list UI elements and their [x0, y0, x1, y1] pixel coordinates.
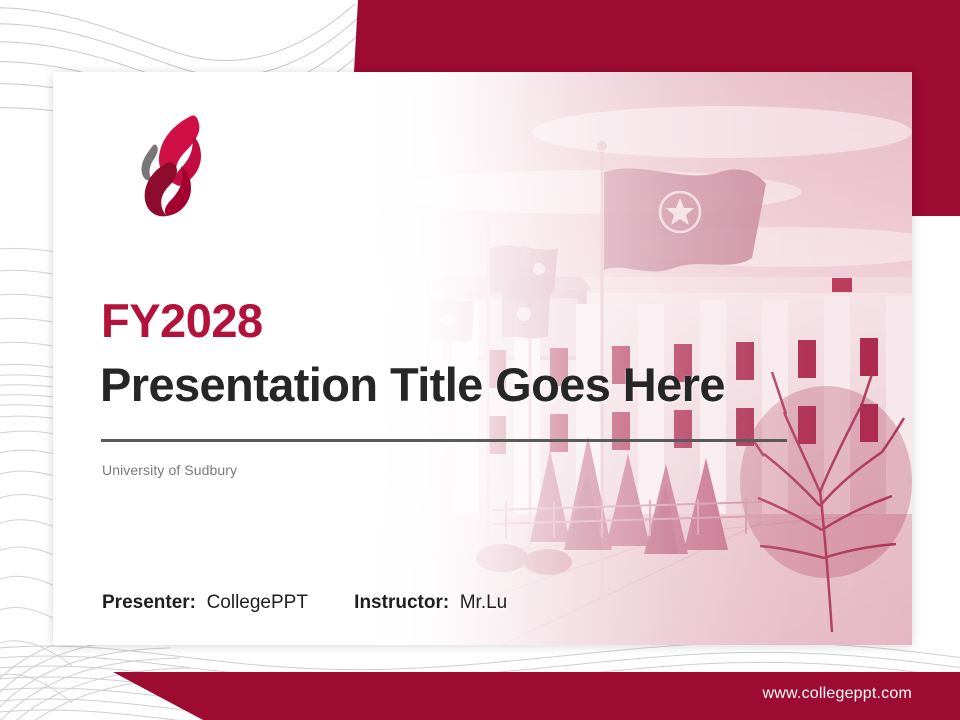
credits-line: Presenter: CollegePPT Instructor: Mr.Lu: [102, 592, 507, 614]
fiscal-year-heading: FY2028: [101, 297, 263, 344]
flame-logo-icon: [121, 112, 217, 220]
footer-website-url[interactable]: www.collegeppt.com: [763, 685, 912, 703]
title-divider: [101, 439, 787, 442]
presenter-name: CollegePPT: [207, 592, 308, 613]
instructor-label: Instructor:: [354, 592, 449, 613]
organization-name: University of Sudbury: [102, 462, 237, 478]
page-title: Presentation Title Goes Here: [100, 361, 725, 408]
slide-card: FY2028 Presentation Title Goes Here Univ…: [53, 72, 912, 645]
instructor-name: Mr.Lu: [460, 592, 508, 613]
card-content: FY2028 Presentation Title Goes Here Univ…: [53, 72, 912, 645]
presenter-label: Presenter:: [102, 592, 196, 613]
presentation-slide: FY2028 Presentation Title Goes Here Univ…: [0, 0, 960, 720]
